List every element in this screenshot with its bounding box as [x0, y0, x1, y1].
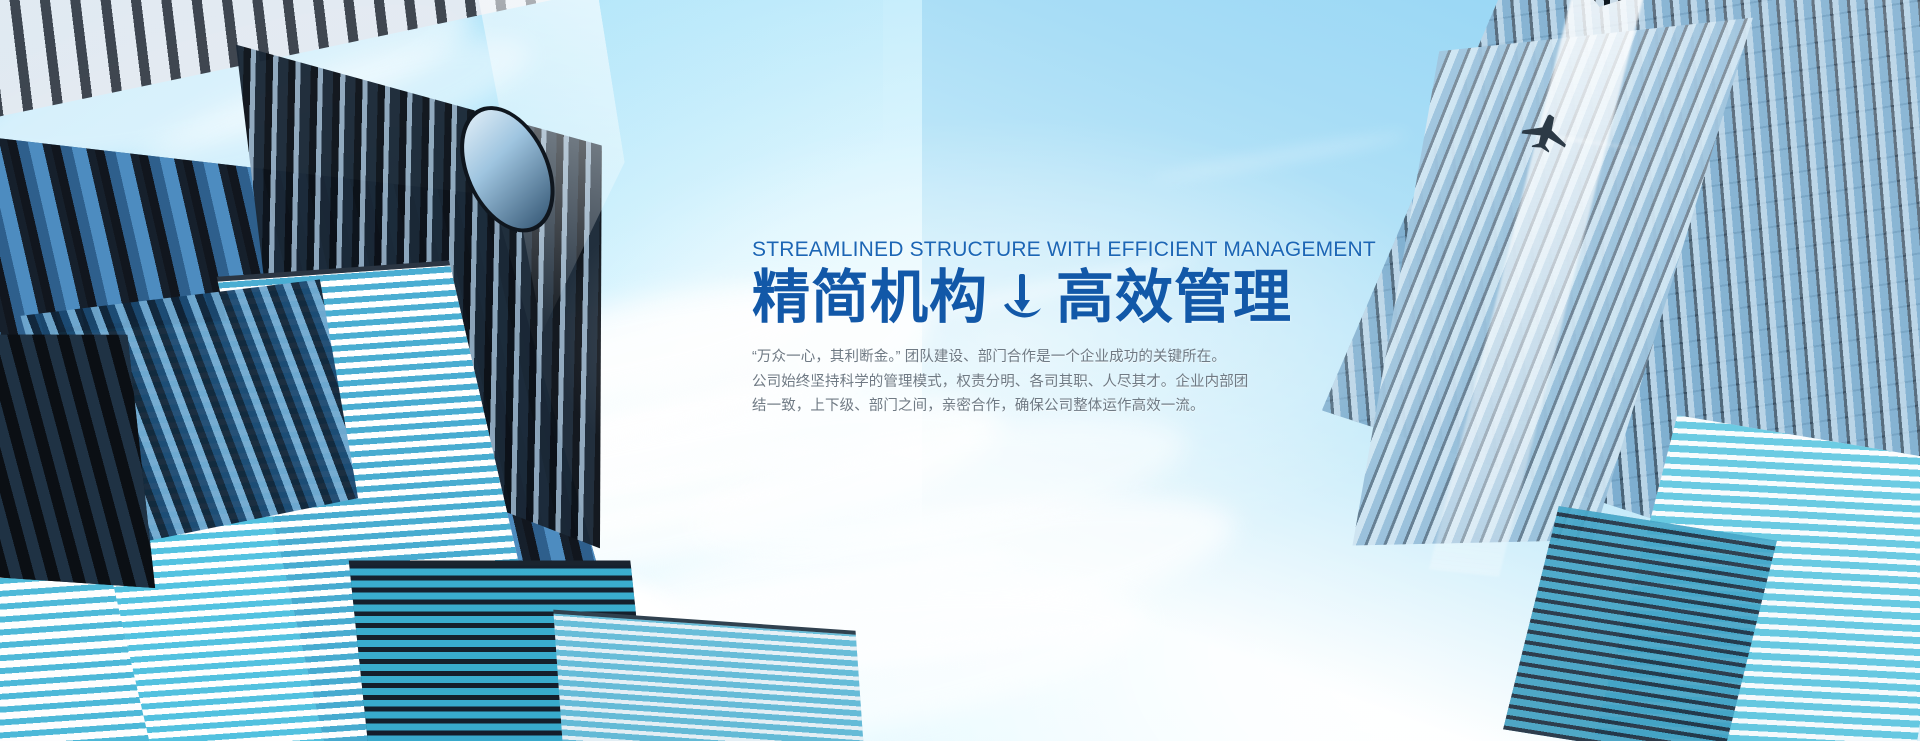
body-line: 公司始终坚持科学的管理模式，权责分明、各司其职、人尽其才。企业内部团 — [752, 370, 1272, 394]
body-description: “万众一心，其利断金。” 团队建设、部门合作是一个企业成功的关键所在。 公司始终… — [752, 345, 1272, 418]
corporate-hero-banner: STREAMLINED STRUCTURE WITH EFFICIENT MAN… — [0, 0, 1920, 741]
body-line: 结一致，上下级、部门之间，亲密合作，确保公司整体运作高效一流。 — [752, 394, 1272, 418]
page-title: 精简机构 高效管理 — [752, 264, 1312, 331]
headline-left-phrase: 精简机构 — [752, 264, 988, 331]
headline-right-phrase: 高效管理 — [1056, 264, 1292, 331]
hero-copy-block: STREAMLINED STRUCTURE WITH EFFICIENT MAN… — [752, 238, 1312, 418]
swoosh-mark-icon — [1002, 272, 1042, 324]
body-line: “万众一心，其利断金。” 团队建设、部门合作是一个企业成功的关键所在。 — [752, 345, 1272, 369]
eyebrow-english-headline: STREAMLINED STRUCTURE WITH EFFICIENT MAN… — [752, 238, 1312, 262]
far-office-tower — [553, 610, 866, 741]
